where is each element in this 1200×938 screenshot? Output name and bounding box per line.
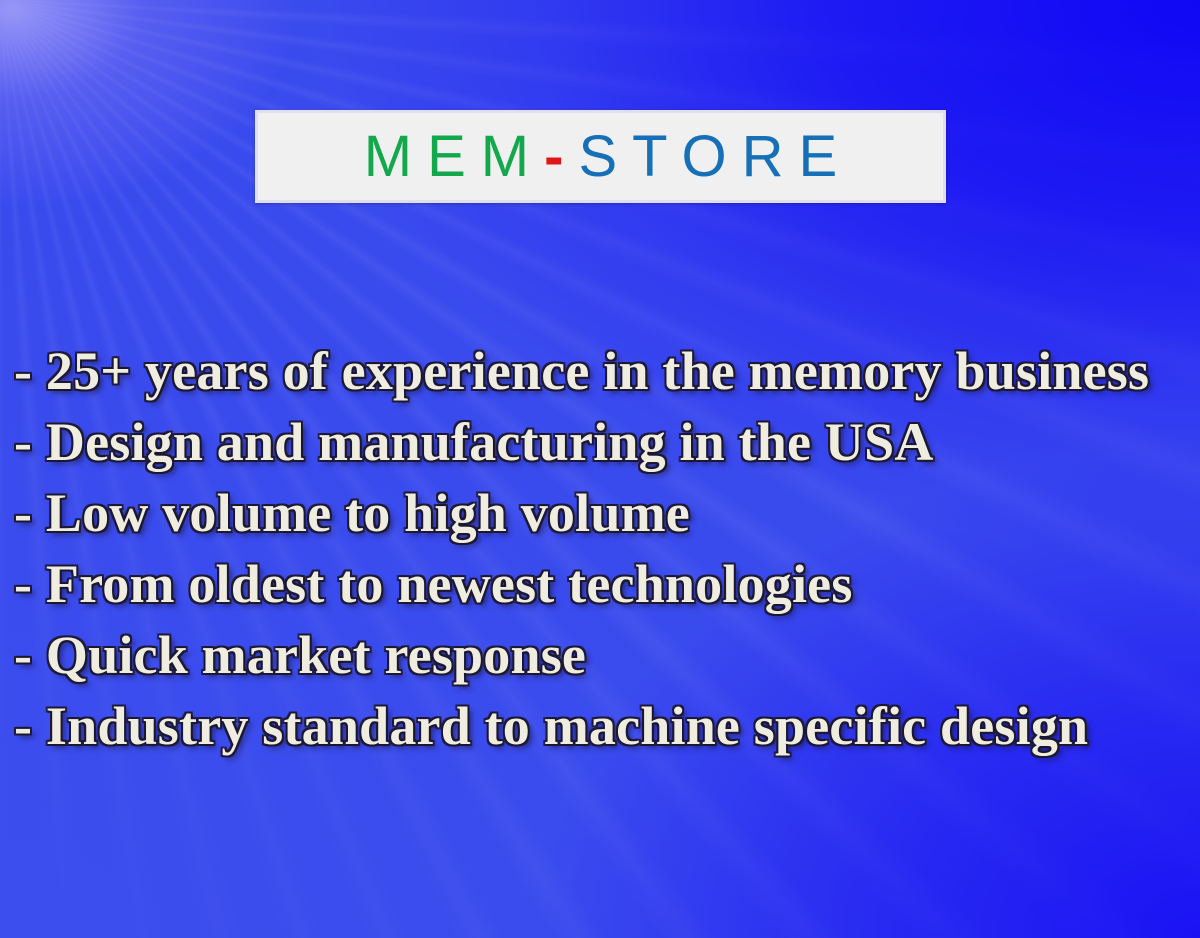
- bullet-item: - From oldest to newest technologies: [14, 549, 1194, 620]
- brand-logo-mem: MEM: [364, 124, 544, 189]
- promo-slide: MEM-STORE - 25+ years of experience in t…: [0, 0, 1200, 938]
- brand-logo-text: MEM-STORE: [349, 128, 852, 186]
- brand-logo-plaque: MEM-STORE: [255, 110, 946, 203]
- brand-logo-store: STORE: [578, 124, 852, 189]
- bullet-item: - Quick market response: [14, 620, 1194, 691]
- brand-logo-dash: -: [544, 124, 578, 189]
- bullet-list: - 25+ years of experience in the memory …: [14, 336, 1194, 762]
- bullet-item: - Low volume to high volume: [14, 478, 1194, 549]
- bullet-item: - 25+ years of experience in the memory …: [14, 336, 1194, 407]
- bullet-item: - Design and manufacturing in the USA: [14, 407, 1194, 478]
- bullet-item: - Industry standard to machine specific …: [14, 691, 1194, 762]
